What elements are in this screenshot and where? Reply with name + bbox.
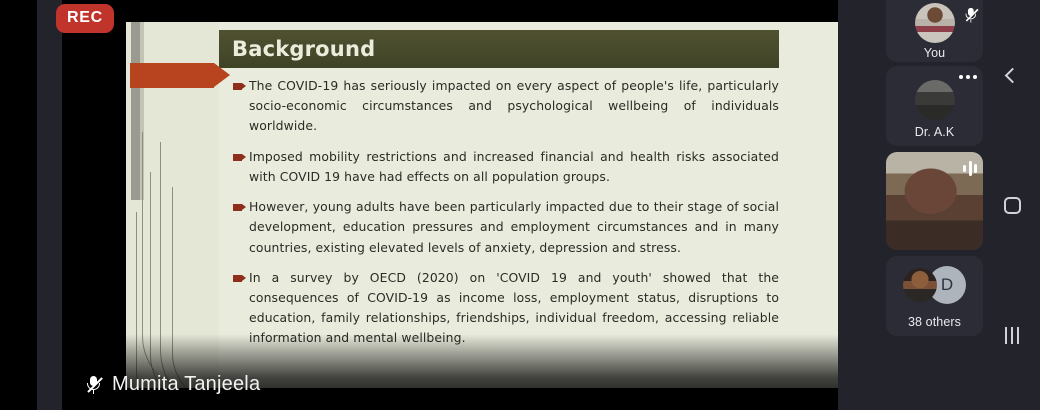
slide-content: Background The COVID-19 has seriously im… <box>219 22 838 388</box>
more-options-icon[interactable] <box>959 75 977 79</box>
avatar <box>915 3 955 43</box>
presentation-slide: Background The COVID-19 has seriously im… <box>126 22 838 388</box>
slide-bullet-item: Imposed mobility restrictions and increa… <box>219 147 779 187</box>
participant-label-you: You <box>886 46 983 60</box>
nav-back-button[interactable] <box>984 58 1040 92</box>
audio-level-icon <box>963 160 977 176</box>
participant-tile-others[interactable]: D 38 others <box>886 256 983 336</box>
presenter-name-row: Mumita Tanjeela <box>86 373 260 396</box>
participant-tile-dr-ak[interactable]: Dr. A.K <box>886 66 983 146</box>
grass-line <box>136 212 176 388</box>
slide-arrow-banner-icon <box>130 63 214 88</box>
video-conference-screen: Background The COVID-19 has seriously im… <box>0 0 1040 410</box>
recents-bars-icon <box>1005 327 1019 344</box>
android-navigation-bar <box>984 0 1040 410</box>
slide-bullet-text: However, young adults have been particul… <box>249 197 779 258</box>
slide-title-bar: Background <box>219 30 779 68</box>
chevron-left-icon <box>1004 67 1020 83</box>
nav-recents-button[interactable] <box>984 318 1040 352</box>
bullet-marker-icon <box>233 83 242 90</box>
slide-bullet-text: Imposed mobility restrictions and increa… <box>249 147 779 187</box>
avatar <box>903 268 937 302</box>
bullet-marker-icon <box>233 204 242 211</box>
shared-screen-stage[interactable]: Background The COVID-19 has seriously im… <box>62 0 838 410</box>
slide-title: Background <box>219 37 375 61</box>
others-avatar-group: D <box>886 266 983 304</box>
presenter-name: Mumita Tanjeela <box>112 373 260 396</box>
nav-home-button[interactable] <box>984 188 1040 222</box>
slide-bullet-text: In a survey by OECD (2020) on 'COVID 19 … <box>249 268 779 349</box>
participant-tile-active-speaker[interactable] <box>886 152 983 250</box>
grass-line <box>172 187 219 388</box>
slide-bullet-item: However, young adults have been particul… <box>219 197 779 258</box>
mic-muted-icon <box>86 375 101 394</box>
avatar <box>915 80 955 120</box>
mic-muted-icon <box>965 7 977 23</box>
slide-bullet-text: The COVID-19 has seriously impacted on e… <box>249 76 779 137</box>
participant-label-dr-ak: Dr. A.K <box>886 125 983 139</box>
left-letterbox-band <box>0 0 37 410</box>
participant-rail: You Dr. A.K D 38 others <box>886 0 984 410</box>
slide-bullet-item: The COVID-19 has seriously impacted on e… <box>219 76 779 137</box>
slide-gray-stripe <box>131 22 140 200</box>
participant-tile-you[interactable]: You <box>886 0 983 62</box>
participant-label-others: 38 others <box>886 315 983 329</box>
bullet-marker-icon <box>233 275 242 282</box>
home-square-icon <box>1004 197 1021 214</box>
recording-badge: REC <box>56 4 114 33</box>
bullet-marker-icon <box>233 154 242 161</box>
slide-bullet-item: In a survey by OECD (2020) on 'COVID 19 … <box>219 268 779 349</box>
slide-bullet-list: The COVID-19 has seriously impacted on e… <box>219 76 779 359</box>
